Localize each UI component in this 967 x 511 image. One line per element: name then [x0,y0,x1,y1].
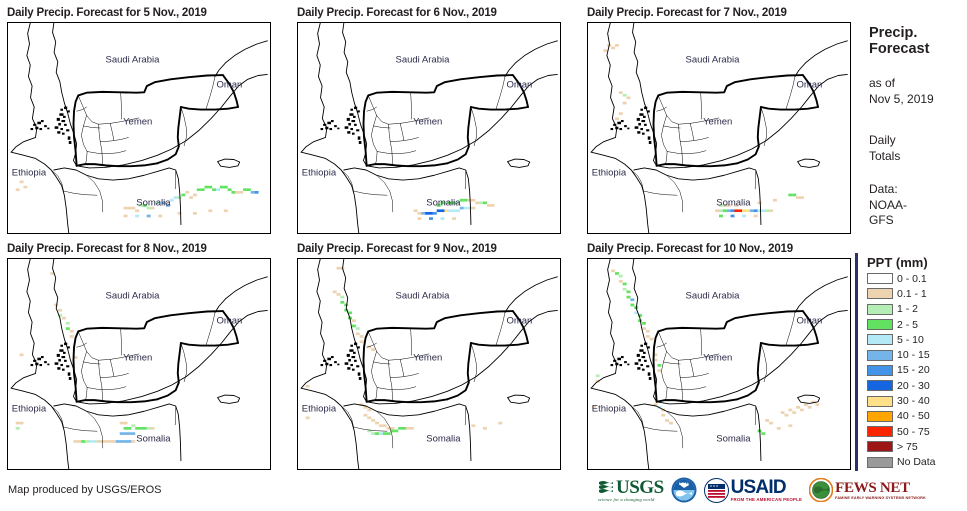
admin-boundary [701,92,702,119]
legend-label: 40 - 50 [897,410,930,422]
country-label-somalia: Somalia [716,433,750,444]
coastline [633,259,657,402]
usaid-logo-tagline: FROM THE AMERICAN PEOPLE [731,497,802,502]
relief-speckle [356,365,359,367]
admin-boundary [87,151,126,154]
precip-cell [619,280,623,283]
precip-cell [371,419,375,422]
usgs-wave-icon [598,480,614,495]
relief-speckle [649,141,652,144]
precip-cell [197,188,201,191]
precip-cell [375,432,379,435]
admin-boundary [411,328,412,355]
precip-cell [456,209,460,212]
relief-speckle [350,109,353,111]
relief-speckle [31,128,34,130]
precip-cell [390,427,394,430]
precip-cell [754,215,758,218]
admin-boundary [100,373,128,377]
relief-speckle [643,352,646,354]
precip-cell [808,406,812,409]
precip-cell [360,340,364,343]
precip-cell [235,191,239,194]
precip-cell [131,424,135,427]
precip-cell [615,272,619,275]
relief-speckle [637,131,640,134]
precip-cell [815,403,819,406]
legend-swatch [867,273,893,284]
relief-speckle [640,364,643,366]
precip-cell [116,440,120,443]
relief-speckle [62,369,65,371]
legend-row[interactable]: 1 - 2 [867,302,936,317]
legend-row[interactable]: 0.1 - 1 [867,286,936,301]
precip-cell [131,207,135,210]
precip-cell [429,212,433,215]
admin-boundary [465,406,466,425]
relief-speckle [347,367,350,370]
precip-cell [243,188,247,191]
legend-label: 0.1 - 1 [897,288,927,300]
country-label-ethiopia: Ethiopia [12,168,46,179]
legend-swatch [867,380,893,391]
admin-boundary [77,107,87,111]
precip-cell [189,196,193,199]
precip-cell [471,424,475,427]
precip-cell [337,267,341,270]
precip-cell [742,215,746,218]
relief-speckle [348,359,351,362]
admin-boundary [86,152,88,165]
precip-cell [646,330,650,333]
map-frame[interactable]: Saudi ArabiaOmanYemenEthiopiaSomalia [7,22,271,234]
relief-speckle [44,125,47,127]
precip-cell [661,414,665,417]
admin-boundary [465,170,466,189]
precip-cell [58,309,62,312]
precip-cell [623,283,627,286]
precip-cell [441,209,445,212]
international-border [761,107,818,110]
country-label-oman: Oman [216,315,242,326]
precip-cell [120,422,124,425]
relief-speckle [59,349,63,352]
precip-cell [596,375,600,378]
relief-speckle [55,126,59,129]
legend-row[interactable]: 15 - 20 [867,363,936,378]
admin-boundary [110,123,114,140]
admin-boundary [667,151,706,154]
precip-cell [723,209,727,212]
relief-speckle [57,354,60,357]
legend-swatch [867,441,893,452]
precip-cell [212,188,216,191]
precip-cell [193,194,197,197]
precip-cell [185,191,189,194]
precip-cell [410,427,414,430]
relief-speckle [59,113,63,116]
relief-speckle [334,361,337,363]
precip-cell [93,440,97,443]
legend-swatch [867,304,893,315]
relief-speckle [640,109,643,111]
precip-cell [731,209,735,212]
relief-speckle [60,128,63,130]
admin-boundary [786,313,795,346]
usgs-logo-text: USGS [616,478,664,497]
precip-cell [306,417,310,420]
relief-speckle [57,118,60,121]
precip-cell [657,364,661,367]
precip-cell [127,432,131,435]
ppt-legend-header: PPT (mm) [867,255,928,270]
relief-speckle [64,124,67,126]
coastline [218,159,240,167]
legend-title-line1: Precip. [869,26,917,41]
admin-boundary [377,411,393,448]
precip-cell [773,199,777,202]
coastline [11,23,37,152]
legend-row[interactable]: 30 - 40 [867,393,936,408]
coastline [301,152,359,233]
map-frame[interactable]: Saudi ArabiaOmanYemenEthiopiaSomalia [297,22,561,234]
admin-boundary [666,152,668,165]
precip-cell [251,191,255,194]
precip-cell [414,209,418,212]
relief-speckle [337,128,339,130]
precip-cell [147,215,151,218]
precip-cell [788,409,792,412]
relief-speckle [327,122,331,125]
relief-speckle [352,133,355,135]
legend-label: No Data [897,456,936,468]
precip-cell [85,440,89,443]
precip-cell [306,385,310,388]
precip-cell [205,186,209,189]
precip-cell [20,422,24,425]
precip-cell [800,409,804,412]
country-label-ethiopia: Ethiopia [592,404,626,415]
legend-swatch [867,426,893,437]
admin-boundary [121,328,122,355]
coastline [215,277,267,313]
precip-cell [417,212,421,215]
admin-boundary [755,406,756,425]
admin-boundary [367,343,377,347]
country-label-oman: Oman [506,315,532,326]
precip-cell [792,411,796,414]
precip-cell [352,325,356,328]
legend-swatch [867,365,893,376]
precip-cell [70,335,74,338]
legend-label: > 75 [897,441,918,453]
admin-boundary [392,386,393,401]
svg-text:NOAA: NOAA [679,482,690,486]
admin-boundary [377,175,393,212]
relief-speckle [321,128,324,130]
precip-cell [208,186,212,189]
admin-boundary [373,126,390,128]
precip-cell [124,432,128,435]
precip-cell [77,440,81,443]
relief-speckle [642,133,645,135]
admin-boundary [667,387,706,390]
relief-speckle [61,120,65,122]
relief-speckle [353,352,356,354]
coastline [11,388,69,469]
admin-boundary [400,123,404,140]
admin-boundary [377,151,416,154]
precip-cell [627,291,631,294]
precip-cell [603,49,607,52]
precip-cell [70,330,74,333]
relief-speckle [55,362,59,365]
precip-cell [181,194,185,197]
relief-speckle [354,124,357,126]
precip-cell [742,209,746,212]
admin-boundary [206,77,215,110]
admin-boundary [64,191,98,195]
country-label-somalia: Somalia [136,197,170,208]
precip-cell [627,97,631,100]
relief-speckle [624,125,627,127]
precip-cell [375,422,379,425]
precip-cell [20,181,24,184]
map-frame[interactable]: Saudi ArabiaOmanYemenEthiopiaSomalia [297,258,561,470]
admin-boundary [496,77,505,110]
map-frame[interactable]: Saudi ArabiaOmanYemenEthiopiaSomalia [7,258,271,470]
precip-cell [135,427,139,430]
country-label-somalia: Somalia [426,197,460,208]
panel-title: Daily Precip. Forecast for 8 Nov., 2019 [7,243,207,255]
coastline [11,259,37,388]
precip-cell [611,47,615,50]
relief-speckle [347,354,350,357]
coastline [798,159,820,167]
international-border [471,343,528,346]
precip-cell [448,209,452,212]
precip-cell [193,212,197,215]
admin-boundary [373,362,390,364]
precip-cell [81,440,85,443]
panel-title: Daily Precip. Forecast for 5 Nov., 2019 [7,7,207,19]
admin-boundary [701,328,702,355]
country-label-somalia: Somalia [136,433,170,444]
admin-boundary [377,387,416,390]
international-border [447,107,471,163]
admin-boundary [110,359,114,376]
admin-boundary [661,351,667,387]
international-border [157,107,181,163]
precip-cell [108,440,112,443]
precip-cell [367,417,371,420]
usaid-logo-text: USAID [731,479,786,497]
precip-cell [352,319,356,322]
fews-net-logo-text: FEWS NET [835,481,910,496]
legend-row[interactable]: 40 - 50 [867,409,936,424]
precip-cell [231,191,235,194]
precip-cell [417,217,421,220]
precip-cell [371,432,375,435]
international-border [157,343,181,399]
legend-label: 0 - 0.1 [897,273,927,285]
map-frame[interactable]: Saudi ArabiaOmanYemenEthiopiaSomalia [587,258,851,470]
precip-cell [247,188,251,191]
country-label-saudi-arabia: Saudi Arabia [686,54,740,65]
precip-cell [615,118,619,121]
precip-cell [120,432,124,435]
precip-cell [337,293,341,296]
precip-cell [224,209,228,212]
precip-cell [131,440,135,443]
precip-cell [216,188,220,191]
precip-cell [406,427,410,430]
precip-cell [124,440,128,443]
admin-boundary [100,137,128,141]
legend-data-source: Data: NOAA- GFS [869,182,907,229]
precip-cell [623,288,627,291]
relief-speckle [646,365,649,367]
relief-speckle [69,377,72,380]
admin-boundary [83,126,100,128]
usgs-logo: USGS science for a changing world [598,475,664,505]
relief-speckle [329,364,332,366]
admin-boundary [175,406,176,425]
precip-cell [208,209,212,212]
relief-speckle [64,360,67,362]
relief-speckle [648,136,651,139]
relief-speckle [642,369,645,371]
relief-speckle [321,364,324,366]
relief-speckle [350,128,353,130]
coastline [591,23,617,152]
legend-row[interactable]: No Data [867,455,936,470]
legend-label: 5 - 10 [897,334,924,346]
precip-cell [398,427,402,430]
admin-boundary [471,107,477,146]
relief-speckle [617,122,621,125]
precip-cell [754,209,758,212]
relief-speckle [331,120,334,122]
international-border [657,399,738,402]
relief-speckle [63,116,66,118]
admin-boundary [400,359,404,376]
admin-boundary [761,107,767,146]
legend-swatch [867,396,893,407]
relief-speckle [352,369,355,371]
coastline [505,277,557,313]
precip-cell [394,430,398,433]
admin-boundary [371,115,377,151]
precip-cell [731,215,735,218]
admin-boundary [367,107,377,111]
precip-cell [452,209,456,212]
legend-row[interactable]: 5 - 10 [867,332,936,347]
relief-speckle [353,116,356,118]
relief-speckle [639,349,643,352]
precip-cell [619,275,623,278]
precip-cell [158,215,162,218]
international-border [761,343,818,346]
country-label-ethiopia: Ethiopia [302,404,336,415]
relief-speckle [356,129,359,131]
precip-cell [441,217,445,220]
relief-speckle [644,360,647,362]
admin-boundary [354,191,388,195]
relief-speckle [39,128,42,130]
international-border [657,163,738,166]
relief-speckle [358,372,361,375]
precip-cell [491,204,495,207]
precip-cell [769,422,773,425]
legend-row[interactable]: 10 - 15 [867,347,936,362]
precip-cell [127,207,131,210]
relief-speckle [619,128,622,130]
legend-daily-totals: Daily Totals [869,133,900,164]
relief-speckle [621,120,624,122]
admin-boundary [102,150,103,165]
international-border [447,343,471,399]
coastline [343,259,367,402]
precip-cell [746,209,750,212]
relief-speckle [359,377,362,380]
admin-boundary [64,427,98,431]
coastline [301,388,359,469]
noaa-logo: NOAA [671,475,697,505]
legend-row[interactable]: 20 - 30 [867,378,936,393]
relief-speckle [39,364,42,366]
relief-speckle [646,129,649,131]
country-label-somalia: Somalia [426,433,460,444]
international-border [181,343,238,346]
legend-label: 1 - 2 [897,303,918,315]
precip-cell [151,427,155,430]
relief-speckle [345,126,349,129]
legend-row[interactable]: 50 - 75 [867,424,936,439]
precip-cell [224,186,228,189]
precip-cell [220,186,224,189]
precip-cell [143,427,147,430]
relief-speckle [348,123,351,126]
admin-boundary [77,343,87,347]
precip-cell [340,296,344,299]
precip-cell [97,440,101,443]
relief-speckle [640,128,643,130]
map-frame[interactable]: Saudi ArabiaOmanYemenEthiopiaSomalia [587,22,851,234]
legend-row[interactable]: 0 - 0.1 [867,271,936,286]
precip-cell [402,427,406,430]
admin-boundary [755,170,756,189]
relief-speckle [624,361,627,363]
precip-cell [379,424,383,427]
relief-speckle [637,367,640,370]
relief-speckle [337,364,339,366]
precip-cell [727,209,731,212]
precip-cell [433,212,437,215]
admin-boundary [644,191,678,195]
precip-cell [66,322,70,325]
admin-boundary [471,343,477,382]
legend-row[interactable]: 2 - 5 [867,317,936,332]
country-label-oman: Oman [216,79,242,90]
legend-as-of: as of Nov 5, 2019 [869,76,934,107]
relief-speckle [627,128,629,130]
legend-row[interactable]: > 75 [867,439,936,454]
coastline [505,41,557,77]
international-border [77,163,158,166]
admin-boundary [682,386,683,401]
noaa-seal-icon: NOAA [671,477,697,503]
